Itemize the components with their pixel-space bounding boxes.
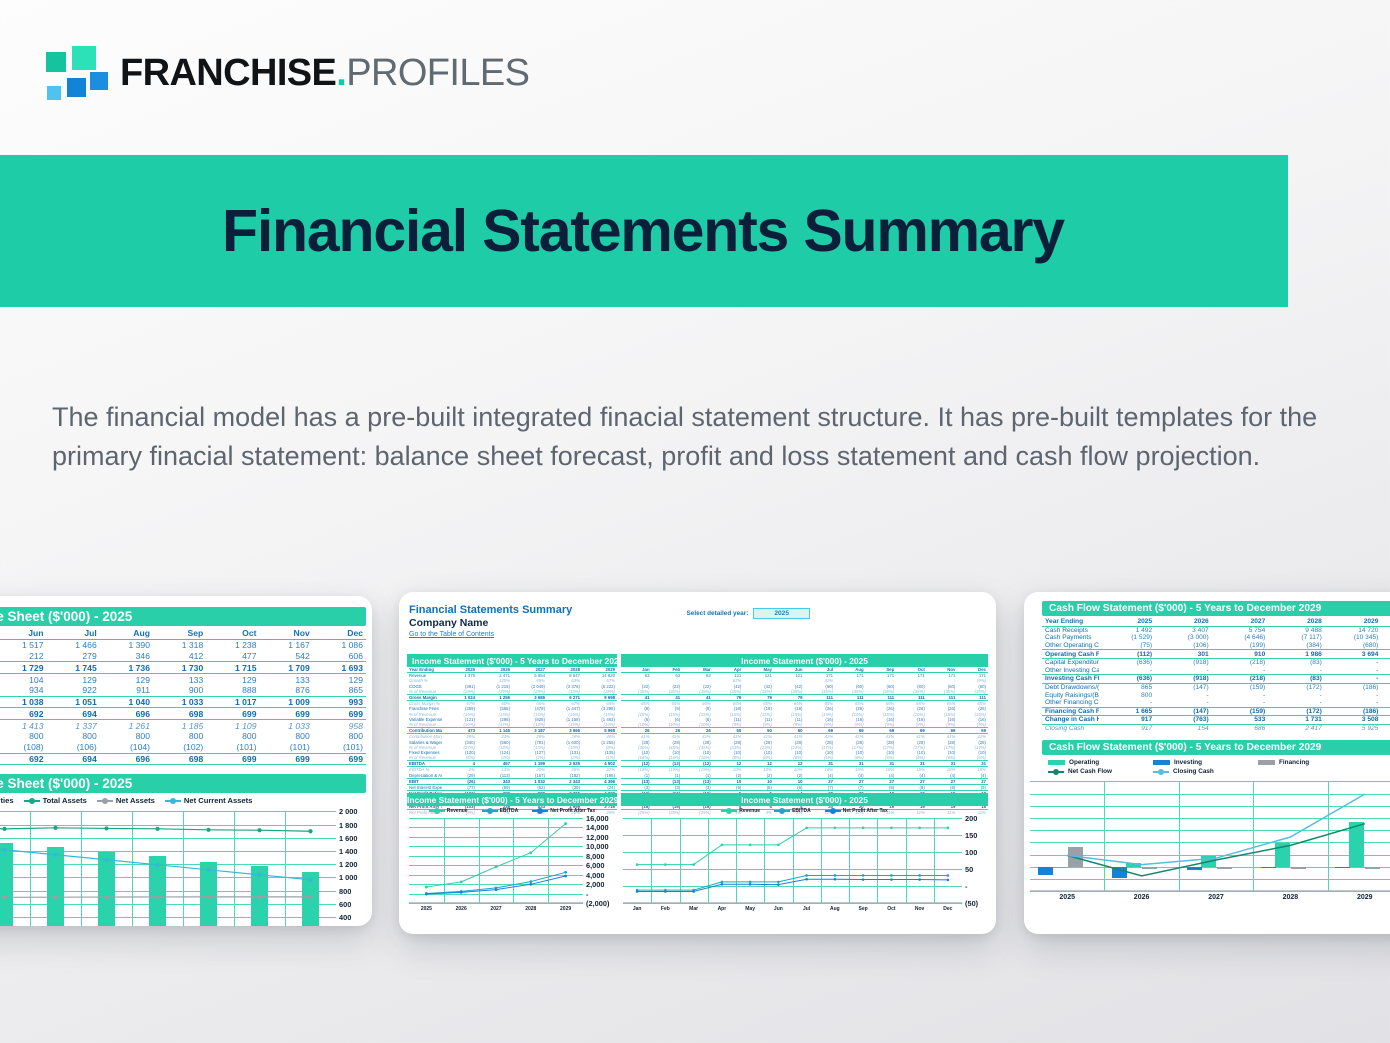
- table-cell: (636): [1099, 675, 1156, 684]
- table-cell: 1 517: [0, 639, 47, 650]
- table-cell: 800: [313, 731, 366, 742]
- table-cell: 542: [260, 651, 313, 662]
- table-cell: -: [1155, 667, 1212, 675]
- table-cell: Sep: [153, 628, 206, 639]
- table-cell: -: [1325, 675, 1382, 684]
- table-cell: 2026: [1155, 618, 1212, 626]
- legend-label: Financing: [1279, 759, 1309, 766]
- legend-label: Investing: [1174, 759, 1202, 766]
- row-label: Financing Cash Flows: [1042, 707, 1099, 716]
- row-label: Cash Receipts: [1042, 626, 1099, 634]
- table-cell: 212: [0, 651, 47, 662]
- table-cell: -: [1212, 691, 1269, 699]
- table-cell: 1 709: [260, 662, 313, 674]
- table-cell-extra: 989: [1381, 683, 1390, 691]
- row-label: Change in Cash Held: [1042, 716, 1099, 725]
- table-cell: 412: [153, 651, 206, 662]
- row-label: Other Financing Cash Flows: [1042, 699, 1099, 707]
- table-cell: 1 715: [206, 662, 259, 674]
- table-cell: (106): [47, 742, 100, 753]
- table-cell: (112): [1099, 650, 1156, 659]
- table-cell: (186): [1325, 707, 1382, 716]
- page-title: Financial Statements Summary: [222, 202, 1064, 261]
- row-label: Closing Cash: [1042, 724, 1099, 732]
- table-cell: 533: [1212, 716, 1269, 725]
- table-cell: 1 986: [1268, 650, 1325, 659]
- fs-toc-link[interactable]: Go to the Table of Contents: [409, 631, 996, 638]
- cash-flow-table: Year Ending20252026202720282029JanCash R…: [1042, 618, 1390, 732]
- description-paragraph: The financial model has a pre-built inte…: [52, 398, 1337, 476]
- balance-sheet-screenshot-card[interactable]: Balance Sheet ($'000) - 2025 MayJunJulAu…: [0, 596, 372, 926]
- row-label: Other Investing Cash Flows: [1042, 667, 1099, 675]
- legend-item: Net Assets: [97, 796, 155, 805]
- table-cell: 1 261: [100, 720, 153, 731]
- table-row: Operating Cash Flows(112)3019101 9863 69…: [1042, 650, 1390, 659]
- table-cell: 934: [0, 685, 47, 696]
- legend-swatch: [97, 800, 113, 802]
- table-cell: 699: [313, 708, 366, 720]
- row-label: Depreciation & Amortisation: [407, 773, 442, 779]
- table-cell: 5 754: [1212, 626, 1269, 634]
- cash-flow-chart: (2 000)(1 000)-1 0002 0003 0004 0005 000…: [1024, 777, 1390, 907]
- table-cell: 917: [1099, 724, 1156, 732]
- table-cell: 1 729: [0, 662, 47, 674]
- table-cell: 1 033: [260, 720, 313, 731]
- table-cell: 911: [100, 685, 153, 696]
- table-cell: (108): [0, 742, 47, 753]
- table-row: Year Ending20252026202720282029Jan: [1042, 618, 1390, 626]
- row-label: Salaries & Wages: [407, 739, 442, 744]
- table-row: 1 0451 0381 0511 0401 0331 0171 009993: [0, 696, 366, 708]
- table-cell: 865: [1099, 683, 1156, 691]
- table-cell: -: [1268, 691, 1325, 699]
- table-cell: (159): [1212, 683, 1269, 691]
- table-cell: 133: [153, 674, 206, 685]
- fs-monthly-pane: Income Statement ($'000) - 2025 JanFebMa…: [621, 654, 988, 815]
- table-row: 945934922911900888876865: [0, 685, 366, 696]
- table-cell: 5 925: [1325, 724, 1382, 732]
- table-cell: Aug: [100, 628, 153, 639]
- table-cell: Oct: [206, 628, 259, 639]
- table-cell: 686: [1212, 724, 1269, 732]
- table-cell: (3 000): [1155, 634, 1212, 642]
- legend-swatch: [774, 810, 790, 812]
- table-cell: (10 345): [1325, 634, 1382, 642]
- fs-monthly-chart: (50)-50100150200JanFebMarAprMayJunJulAug…: [621, 814, 988, 919]
- table-cell-extra: 800: [1381, 691, 1390, 699]
- table-cell-extra: Jan: [1381, 618, 1390, 626]
- table-cell: -: [1325, 699, 1382, 707]
- table-cell: 9 488: [1268, 626, 1325, 634]
- table-cell-extra: -: [1381, 699, 1390, 707]
- legend-item: Current Liabilities: [0, 796, 14, 805]
- chart-lines: [1024, 777, 1390, 907]
- table-cell: 606: [313, 651, 366, 662]
- legend-swatch: [1048, 760, 1065, 765]
- legend-label: Net Assets: [116, 796, 155, 805]
- table-cell: Nov: [260, 628, 313, 639]
- table-cell: 3 407: [1155, 626, 1212, 634]
- legend-item: Closing Cash: [1153, 768, 1258, 775]
- table-cell: 800: [47, 731, 100, 742]
- table-cell: 301: [1155, 650, 1212, 659]
- table-cell: 1 051: [47, 696, 100, 708]
- table-cell-extra: (47): [1381, 634, 1390, 642]
- table-cell: (636): [1099, 658, 1156, 666]
- legend-swatch: [825, 810, 841, 812]
- table-cell: (7 117): [1268, 634, 1325, 642]
- table-cell: (83): [1268, 675, 1325, 684]
- row-label: Contribution Margin %: [407, 734, 442, 740]
- table-row: 703692694696698699699699: [0, 753, 366, 765]
- balance-sheet-chart-title: Balance Sheet ($'000) - 2025: [0, 774, 366, 793]
- table-cell: 1 167: [260, 639, 313, 650]
- table-cell: 129: [313, 674, 366, 685]
- table-cell: 1 318: [153, 639, 206, 650]
- table-row: 178212279346412477542606: [0, 651, 366, 662]
- table-cell: -: [1099, 699, 1156, 707]
- fs-monthly-chart-title: Income Statement ($'000) - 2025: [621, 793, 988, 806]
- table-cell: 1 665: [1099, 707, 1156, 716]
- table-cell: 1 009: [260, 696, 313, 708]
- balance-sheet-table-title: Balance Sheet ($'000) - 2025: [0, 607, 366, 626]
- brand-name-bold: FRANCHISE: [120, 52, 336, 94]
- row-label: Capital Expenditure: [1042, 658, 1099, 666]
- table-cell: 1 745: [47, 662, 100, 674]
- table-cell: Jul: [47, 628, 100, 639]
- table-cell: 2 417: [1268, 724, 1325, 732]
- table-row: 1 4711 4131 3371 2611 1851 1091 033958: [0, 720, 366, 731]
- table-cell: 699: [260, 708, 313, 720]
- row-label: Debt Drawdowns/(Repayments): [1042, 683, 1099, 691]
- table-row: 1 7491 7291 7451 7361 7301 7151 7091 693: [0, 662, 366, 674]
- table-cell: (101): [260, 742, 313, 753]
- table-cell: 2025: [1099, 618, 1156, 626]
- table-cell: 1 736: [100, 662, 153, 674]
- fs-annual-table-title: Income Statement ($'000) - 5 Years to De…: [407, 654, 617, 667]
- brand-wordmark: FRANCHISE.PROFILES: [120, 54, 529, 92]
- table-cell: 800: [1099, 691, 1156, 699]
- table-cell: 694: [47, 753, 100, 765]
- cash-flow-chart-title: Cash Flow Statement ($'000) - 5 Years to…: [1042, 740, 1390, 755]
- table-cell: 477: [206, 651, 259, 662]
- chart-lines: [621, 814, 988, 919]
- table-cell: (159): [1212, 707, 1269, 716]
- table-cell: 1 238: [206, 639, 259, 650]
- fs-annual-chart-pane: Income Statement ($'000) - 5 Years to De…: [407, 793, 617, 919]
- legend-swatch: [1048, 771, 1064, 773]
- table-row: Capital Expenditure(636)(918)(218)(83)-(…: [1042, 658, 1390, 666]
- row-label: Other Operating Cash Flows: [1042, 642, 1099, 650]
- legend-swatch: [1153, 771, 1169, 773]
- table-cell: 1 033: [153, 696, 206, 708]
- table-cell: 154: [1155, 724, 1212, 732]
- table-cell: 917: [1099, 716, 1156, 725]
- table-row: Investing Cash Flows(636)(918)(218)(83)-…: [1042, 675, 1390, 684]
- table-row: MayJunJulAugSepOctNovDec: [0, 628, 366, 639]
- brand-logo: FRANCHISE.PROFILES: [46, 46, 529, 100]
- table-cell: (172): [1268, 683, 1325, 691]
- fs-year-selector-label: Select detailed year:: [687, 610, 749, 617]
- table-cell: 1 040: [100, 696, 153, 708]
- table-cell: 696: [100, 708, 153, 720]
- table-cell: (102): [153, 742, 206, 753]
- table-cell: (1 529): [1099, 634, 1156, 642]
- legend-swatch: [24, 800, 40, 802]
- page-header: FRANCHISE.PROFILES: [0, 0, 1390, 152]
- row-label: Contribution Margin: [407, 728, 442, 734]
- table-row: (97)(108)(106)(104)(102)(101)(101)(101): [0, 742, 366, 753]
- table-cell: 876: [260, 685, 313, 696]
- legend-label: Current Liabilities: [0, 796, 14, 805]
- brand-name-dot: .: [336, 52, 346, 94]
- table-cell: -: [1325, 658, 1382, 666]
- table-cell: 1 017: [206, 696, 259, 708]
- table-cell: 129: [47, 674, 100, 685]
- legend-label: Total Assets: [43, 796, 87, 805]
- table-cell: 694: [47, 708, 100, 720]
- table-cell: 1 466: [47, 639, 100, 650]
- table-cell: 1 492: [1099, 626, 1156, 634]
- legend-item: Operating: [1048, 759, 1153, 766]
- table-cell: (75): [1099, 642, 1156, 650]
- table-cell: 699: [206, 753, 259, 765]
- table-cell: 958: [313, 720, 366, 731]
- table-cell: -: [1099, 667, 1156, 675]
- legend-label: Operating: [1069, 759, 1099, 766]
- fs-annual-chart: (2,000)-2,0004,0006,0008,00010,00012,000…: [407, 814, 617, 919]
- table-row: Financing Cash Flows1 665(147)(159)(172)…: [1042, 707, 1390, 716]
- balance-sheet-chart: -2004006008001 0001 2001 4001 6001 8002 …: [0, 807, 372, 926]
- table-row: Other Financing Cash Flows------: [1042, 699, 1390, 707]
- table-row: 101104129129133129133129: [0, 674, 366, 685]
- table-row: Other Operating Cash Flows(75)(106)(199)…: [1042, 642, 1390, 650]
- legend-swatch: [721, 810, 737, 812]
- table-cell-extra: -: [1381, 667, 1390, 675]
- table-cell: 800: [100, 731, 153, 742]
- table-row: 800800800800800800800800: [0, 731, 366, 742]
- table-cell: 1 693: [313, 662, 366, 674]
- table-cell: (147): [1155, 683, 1212, 691]
- row-label: Net Interest Expense: [407, 784, 442, 790]
- row-label: Franchise Fees: [407, 706, 442, 711]
- row-label: Gross Margin: [407, 694, 442, 700]
- title-banner: Financial Statements Summary: [0, 155, 1288, 307]
- table-cell: 14 720: [1325, 626, 1382, 634]
- screenshot-gallery: Balance Sheet ($'000) - 2025 MayJunJulAu…: [0, 592, 1390, 942]
- table-cell: (106): [1155, 642, 1212, 650]
- table-cell: (218): [1212, 658, 1269, 666]
- table-cell: 699: [313, 753, 366, 765]
- table-cell: -: [1212, 699, 1269, 707]
- table-cell: 800: [0, 731, 47, 742]
- table-cell: -: [1155, 699, 1212, 707]
- logo-squares-icon: [46, 46, 106, 100]
- table-cell: 279: [47, 651, 100, 662]
- table-cell: (101): [313, 742, 366, 753]
- legend-swatch: [482, 810, 498, 812]
- table-cell: Jun: [0, 628, 47, 639]
- balance-sheet-table: MayJunJulAugSepOctNovDec1 5711 5171 4661…: [0, 628, 366, 765]
- table-cell: 698: [153, 753, 206, 765]
- table-cell: 2028: [1268, 618, 1325, 626]
- table-cell: 2027: [1212, 618, 1269, 626]
- table-cell: 1 086: [313, 639, 366, 650]
- legend-item: Financing: [1258, 759, 1363, 766]
- brand-name-light: PROFILES: [346, 52, 529, 94]
- table-cell: (918): [1155, 675, 1212, 684]
- cash-flow-table-title: Cash Flow Statement ($'000) - 5 Years to…: [1042, 601, 1390, 616]
- table-cell: 698: [153, 708, 206, 720]
- table-cell: 800: [153, 731, 206, 742]
- row-label: Equity Raisings/(Buybacks): [1042, 691, 1099, 699]
- table-cell: 922: [47, 685, 100, 696]
- table-cell: 129: [206, 674, 259, 685]
- legend-label: Net Current Assets: [184, 796, 253, 805]
- cash-flow-screenshot-card[interactable]: Cash Flow Statement ($'000) - 5 Years to…: [1024, 592, 1390, 934]
- table-cell: 699: [206, 708, 259, 720]
- legend-swatch: [1153, 760, 1170, 765]
- table-cell: 800: [206, 731, 259, 742]
- legend-item: Total Assets: [24, 796, 87, 805]
- table-cell: (147): [1155, 707, 1212, 716]
- table-cell: 346: [100, 651, 153, 662]
- table-cell: 1 390: [100, 639, 153, 650]
- table-row: Debt Drawdowns/(Repayments)865(147)(159)…: [1042, 683, 1390, 691]
- table-cell: 3 508: [1325, 716, 1382, 725]
- balance-sheet-chart-legend: Current LiabilitiesTotal AssetsNet Asset…: [0, 796, 372, 805]
- legend-swatch: [532, 810, 548, 812]
- table-cell-extra: (36): [1381, 675, 1390, 684]
- legend-item: Net Cash Flow: [1048, 768, 1153, 775]
- table-cell: (186): [1325, 683, 1382, 691]
- table-cell: (83): [1268, 658, 1325, 666]
- table-cell: 133: [260, 674, 313, 685]
- table-cell: (199): [1212, 642, 1269, 650]
- table-cell: -: [1212, 667, 1269, 675]
- table-cell: -: [1155, 691, 1212, 699]
- legend-swatch: [165, 800, 181, 802]
- table-cell: 129: [100, 674, 153, 685]
- table-cell: 692: [0, 708, 47, 720]
- table-row: Other Investing Cash Flows------: [1042, 667, 1390, 675]
- table-cell: 1 185: [153, 720, 206, 731]
- table-cell-extra: 1 731: [1381, 716, 1390, 725]
- table-cell: (218): [1212, 675, 1269, 684]
- table-cell: 910: [1212, 650, 1269, 659]
- table-cell-extra: 1 789: [1381, 707, 1390, 716]
- table-cell: (918): [1155, 658, 1212, 666]
- table-cell: 1 731: [1268, 716, 1325, 725]
- table-cell: 104: [0, 674, 47, 685]
- table-cell: 993: [313, 696, 366, 708]
- table-row: 1 5711 5171 4661 3901 3181 2381 1671 086: [0, 639, 366, 650]
- table-cell: 900: [153, 685, 206, 696]
- table-cell: (680): [1325, 642, 1382, 650]
- table-row: Change in Cash Held917(763)5331 7313 508…: [1042, 716, 1390, 725]
- table-cell: 3 694: [1325, 650, 1382, 659]
- fs-year-selector-value[interactable]: 2025: [753, 608, 810, 619]
- row-label: Operating Cash Flows: [1042, 650, 1099, 659]
- table-cell-extra: 32: [1381, 626, 1390, 634]
- table-cell: 1 337: [47, 720, 100, 731]
- chart-lines: [0, 807, 372, 926]
- table-cell: -: [1325, 667, 1382, 675]
- table-cell: 696: [100, 753, 153, 765]
- table-row: Equity Raisings/(Buybacks)800----800: [1042, 691, 1390, 699]
- table-cell: Dec: [313, 628, 366, 639]
- table-row: 703692694696698699699699: [0, 708, 366, 720]
- legend-label: Net Cash Flow: [1068, 768, 1112, 775]
- table-cell: 699: [260, 753, 313, 765]
- table-cell: 1 038: [0, 696, 47, 708]
- fs-annual-pane: Income Statement ($'000) - 5 Years to De…: [407, 654, 617, 815]
- table-row: Closing Cash9171546862 4175 9251 731: [1042, 724, 1390, 732]
- row-label: Cash Payments: [1042, 634, 1099, 642]
- table-cell: (763): [1155, 716, 1212, 725]
- legend-item: Investing: [1153, 759, 1258, 766]
- table-cell: 1 413: [0, 720, 47, 731]
- table-cell: -: [1325, 691, 1382, 699]
- table-cell: -: [1268, 667, 1325, 675]
- legend-label: Closing Cash: [1173, 768, 1214, 775]
- table-cell: 888: [206, 685, 259, 696]
- table-cell-extra: (22): [1381, 650, 1390, 659]
- table-cell-extra: (7): [1381, 642, 1390, 650]
- table-cell-extra: 1 731: [1381, 724, 1390, 732]
- cash-flow-chart-legend: OperatingInvestingFinancingNet Cash Flow…: [1048, 759, 1390, 775]
- table-cell: (104): [100, 742, 153, 753]
- table-cell: 2029: [1325, 618, 1382, 626]
- table-row: Cash Receipts1 4923 4075 7549 48814 7203…: [1042, 626, 1390, 634]
- row-label: Year Ending: [1042, 618, 1099, 626]
- table-cell: 865: [313, 685, 366, 696]
- fs-monthly-table-title: Income Statement ($'000) - 2025: [621, 654, 988, 667]
- table-cell: (384): [1268, 642, 1325, 650]
- table-cell: 1 730: [153, 662, 206, 674]
- fs-year-selector[interactable]: Select detailed year: 2025: [687, 608, 810, 619]
- fs-annual-chart-title: Income Statement ($'000) - 5 Years to De…: [407, 793, 617, 806]
- chart-lines: [407, 814, 617, 919]
- table-cell-extra: (36): [1381, 658, 1390, 666]
- table-row: Cash Payments(1 529)(3 000)(4 646)(7 117…: [1042, 634, 1390, 642]
- row-label: Investing Cash Flows: [1042, 675, 1099, 684]
- legend-swatch: [1258, 760, 1275, 765]
- legend-swatch: [429, 810, 445, 812]
- table-cell: 1 109: [206, 720, 259, 731]
- table-cell: 692: [0, 753, 47, 765]
- table-cell: -: [1268, 699, 1325, 707]
- fs-monthly-chart-pane: Income Statement ($'000) - 2025 RevenueE…: [621, 793, 988, 919]
- table-cell: 800: [260, 731, 313, 742]
- financial-summary-screenshot-card[interactable]: Financial Statements Summary Company Nam…: [399, 592, 996, 934]
- table-cell: (4 646): [1212, 634, 1269, 642]
- table-cell: (172): [1268, 707, 1325, 716]
- legend-item: Net Current Assets: [165, 796, 253, 805]
- table-cell: (101): [206, 742, 259, 753]
